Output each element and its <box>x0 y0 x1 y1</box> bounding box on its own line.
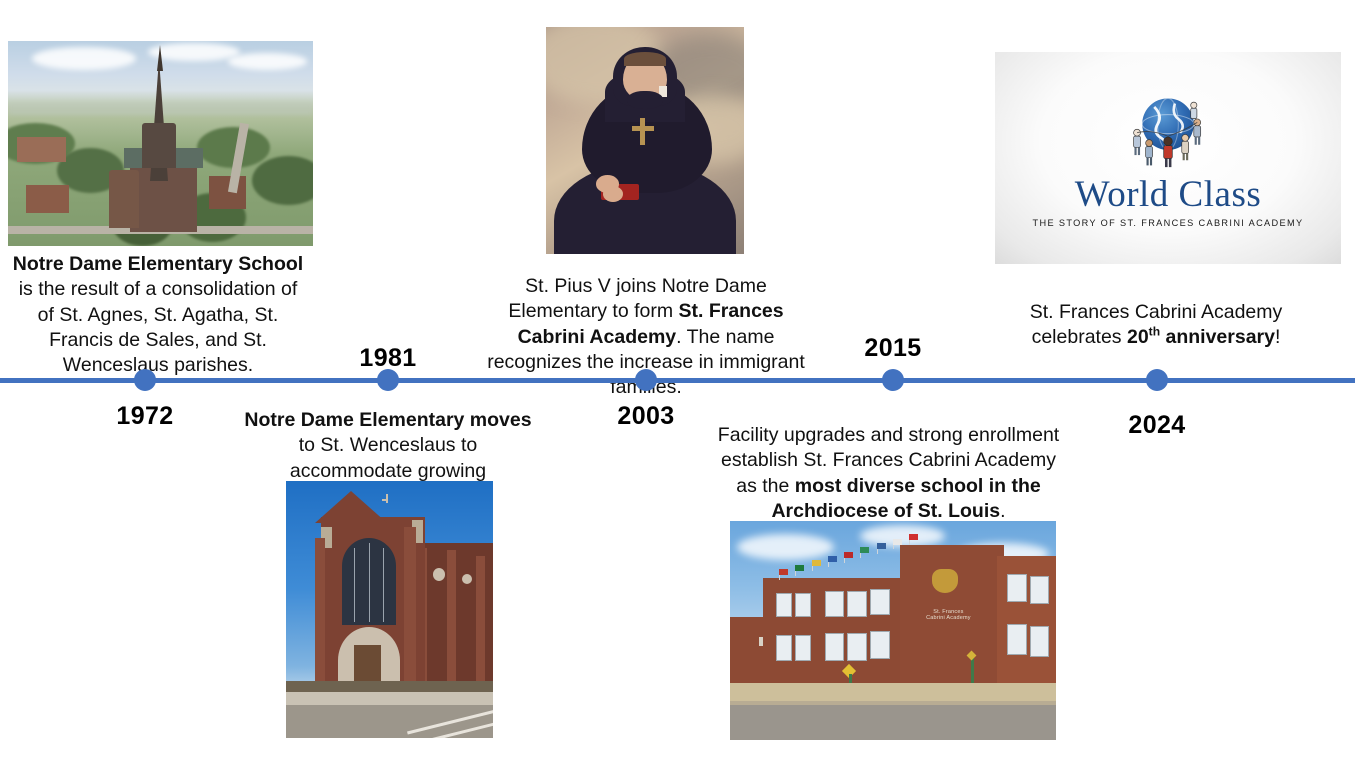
year-label-2024: 2024 <box>1097 411 1217 440</box>
st-wenceslaus-church-photo <box>286 481 493 738</box>
timeline-node-2024[interactable] <box>1146 369 1168 391</box>
year-label-2003: 2003 <box>586 402 706 431</box>
caption-1972: Notre Dame Elementary School is the resu… <box>8 252 308 379</box>
caption-2015: Facility upgrades and strong enrollment … <box>716 423 1061 524</box>
mother-cabrini-portrait <box>546 27 744 254</box>
world-class-subtitle: THE STORY OF ST. FRANCES CABRINI ACADEMY <box>1033 218 1304 228</box>
year-label-1981: 1981 <box>328 344 448 373</box>
school-sign-line2: Cabrini Academy <box>909 615 987 622</box>
school-sign-line1: St. Frances <box>909 609 987 616</box>
year-label-2015: 2015 <box>833 334 953 363</box>
timeline-infographic: Notre Dame Elementary School is the resu… <box>0 0 1355 762</box>
year-label-1972: 1972 <box>85 402 205 431</box>
caption-2024: St. Frances Cabrini Academy celebrates 2… <box>1016 300 1296 351</box>
school-building-photo: St. Frances Cabrini Academy <box>730 521 1056 740</box>
world-class-title: World Class <box>1075 176 1262 213</box>
timeline-node-2003[interactable] <box>635 369 657 391</box>
world-class-video-thumbnail[interactable]: World Class THE STORY OF ST. FRANCES CAB… <box>995 52 1341 264</box>
globe-logo-icon <box>1125 88 1211 174</box>
timeline-node-2015[interactable] <box>882 369 904 391</box>
aerial-church-photo <box>8 41 313 246</box>
timeline-node-1972[interactable] <box>134 369 156 391</box>
